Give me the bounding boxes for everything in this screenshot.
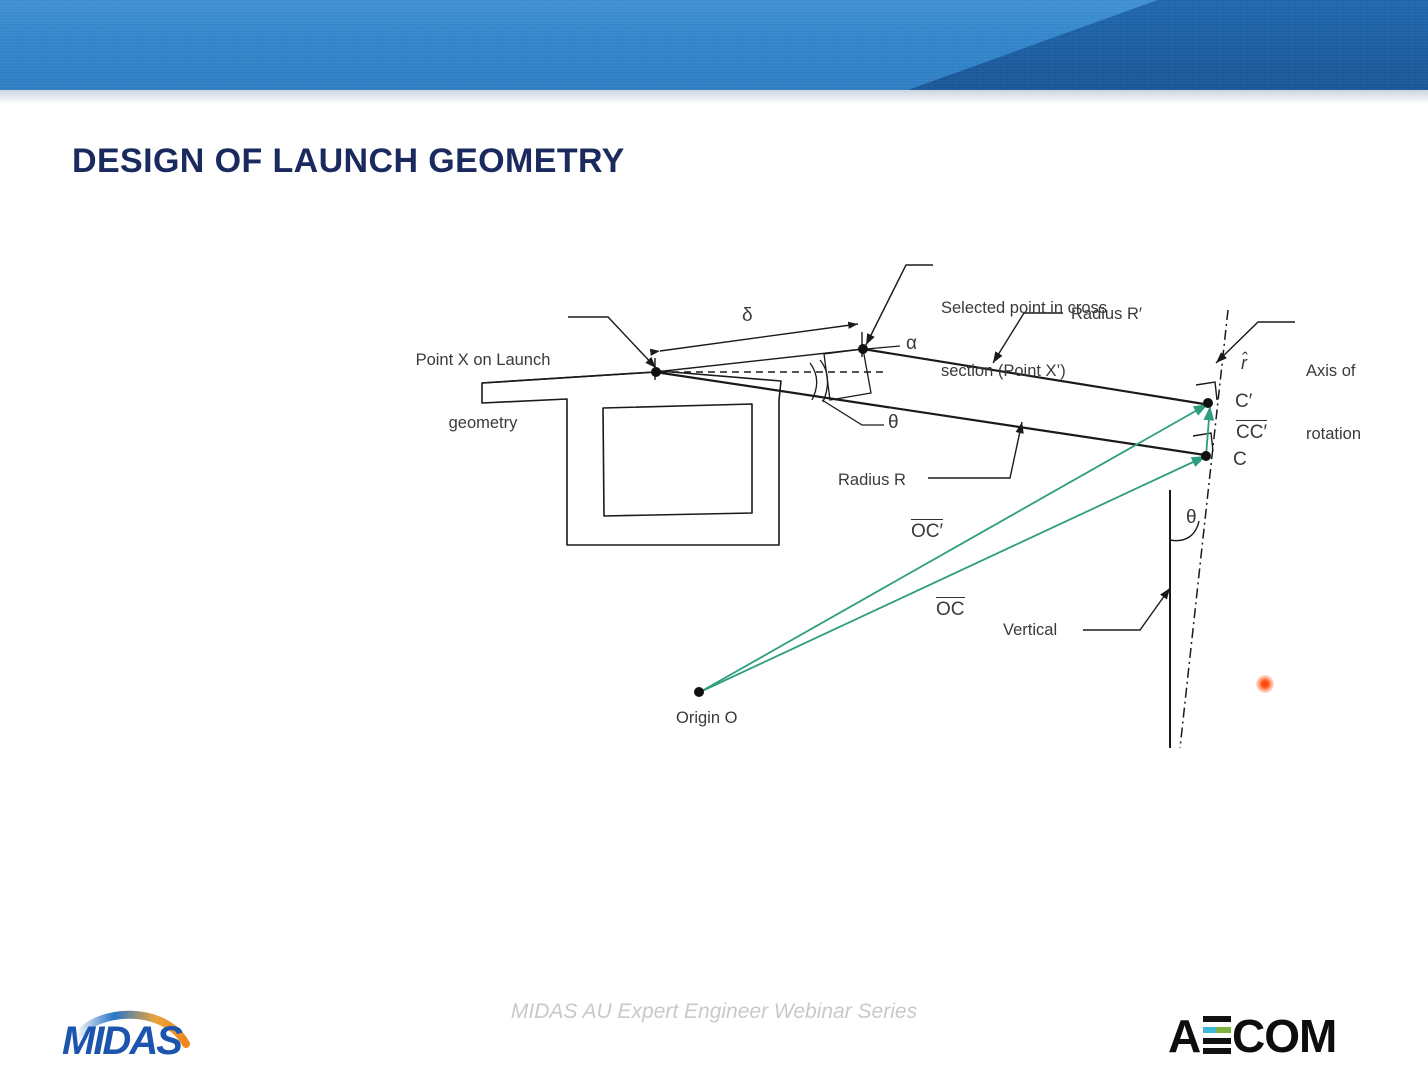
svg-text:A: A — [1168, 1010, 1200, 1062]
right-angle-mark-c-prime — [1196, 382, 1217, 400]
c-prime-label: C′ — [1235, 391, 1252, 412]
point-x-label-line2: geometry — [398, 413, 568, 434]
oc-vector-label: OC — [936, 597, 965, 620]
vertical-label: Vertical — [1003, 620, 1057, 641]
cc-prime-vector-line — [1206, 406, 1210, 456]
point-c-prime-dot — [1203, 398, 1213, 408]
point-x-leader — [568, 317, 656, 368]
axis-of-rotation-line — [1180, 310, 1228, 748]
alpha-label: α — [906, 333, 917, 354]
oc-vector-line — [700, 456, 1206, 692]
selected-point-leader — [866, 265, 933, 345]
radius-r-prime-label: Radius R′ — [1071, 304, 1142, 325]
origin-label: Origin O — [676, 708, 737, 729]
theta-section-label: θ — [888, 412, 899, 433]
axis-of-rotation-line2: rotation — [1306, 424, 1416, 445]
point-x-label-line1: Point X on Launch — [398, 350, 568, 371]
point-c-dot — [1201, 451, 1211, 461]
theta-section-leader — [822, 400, 884, 425]
selected-point-label-line2: section (Point X’) — [941, 361, 1171, 382]
oc-prime-vector-line — [700, 404, 1208, 692]
right-angle-mark-c — [1193, 433, 1213, 451]
axis-of-rotation-line1: Axis of — [1306, 361, 1416, 382]
origin-dot — [694, 687, 704, 697]
point-x-dot — [651, 367, 661, 377]
midas-logo: MIDAS — [58, 1008, 228, 1064]
selected-point-label: Selected point in cross section (Point X… — [941, 256, 1171, 403]
position-vectors — [700, 404, 1210, 692]
radius-r-leader — [928, 422, 1022, 478]
r-hat-label: r̂ — [1241, 353, 1247, 374]
axis-of-rotation-leader — [1216, 322, 1295, 363]
oc-prime-vector-label: OC′ — [911, 519, 943, 542]
axis-of-rotation-label: Axis of rotation — [1306, 319, 1416, 466]
svg-text:MIDAS: MIDAS — [62, 1019, 183, 1063]
delta-label: δ — [742, 305, 753, 326]
alpha-angle-leader — [866, 346, 900, 349]
vertical-leader — [1083, 588, 1170, 630]
point-x-prime-dot — [858, 344, 868, 354]
laser-pointer-cursor — [1256, 675, 1274, 693]
aecom-logo: A COM — [1168, 1006, 1368, 1064]
radius-r-label: Radius R — [838, 470, 906, 491]
cc-prime-vector-label: CC′ — [1236, 420, 1267, 443]
theta-vertical-label: θ — [1186, 507, 1197, 528]
svg-text:COM: COM — [1232, 1010, 1336, 1062]
c-label: C — [1233, 449, 1247, 470]
launch-geometry-diagram — [0, 0, 1428, 1076]
point-x-label: Point X on Launch geometry — [398, 308, 568, 455]
